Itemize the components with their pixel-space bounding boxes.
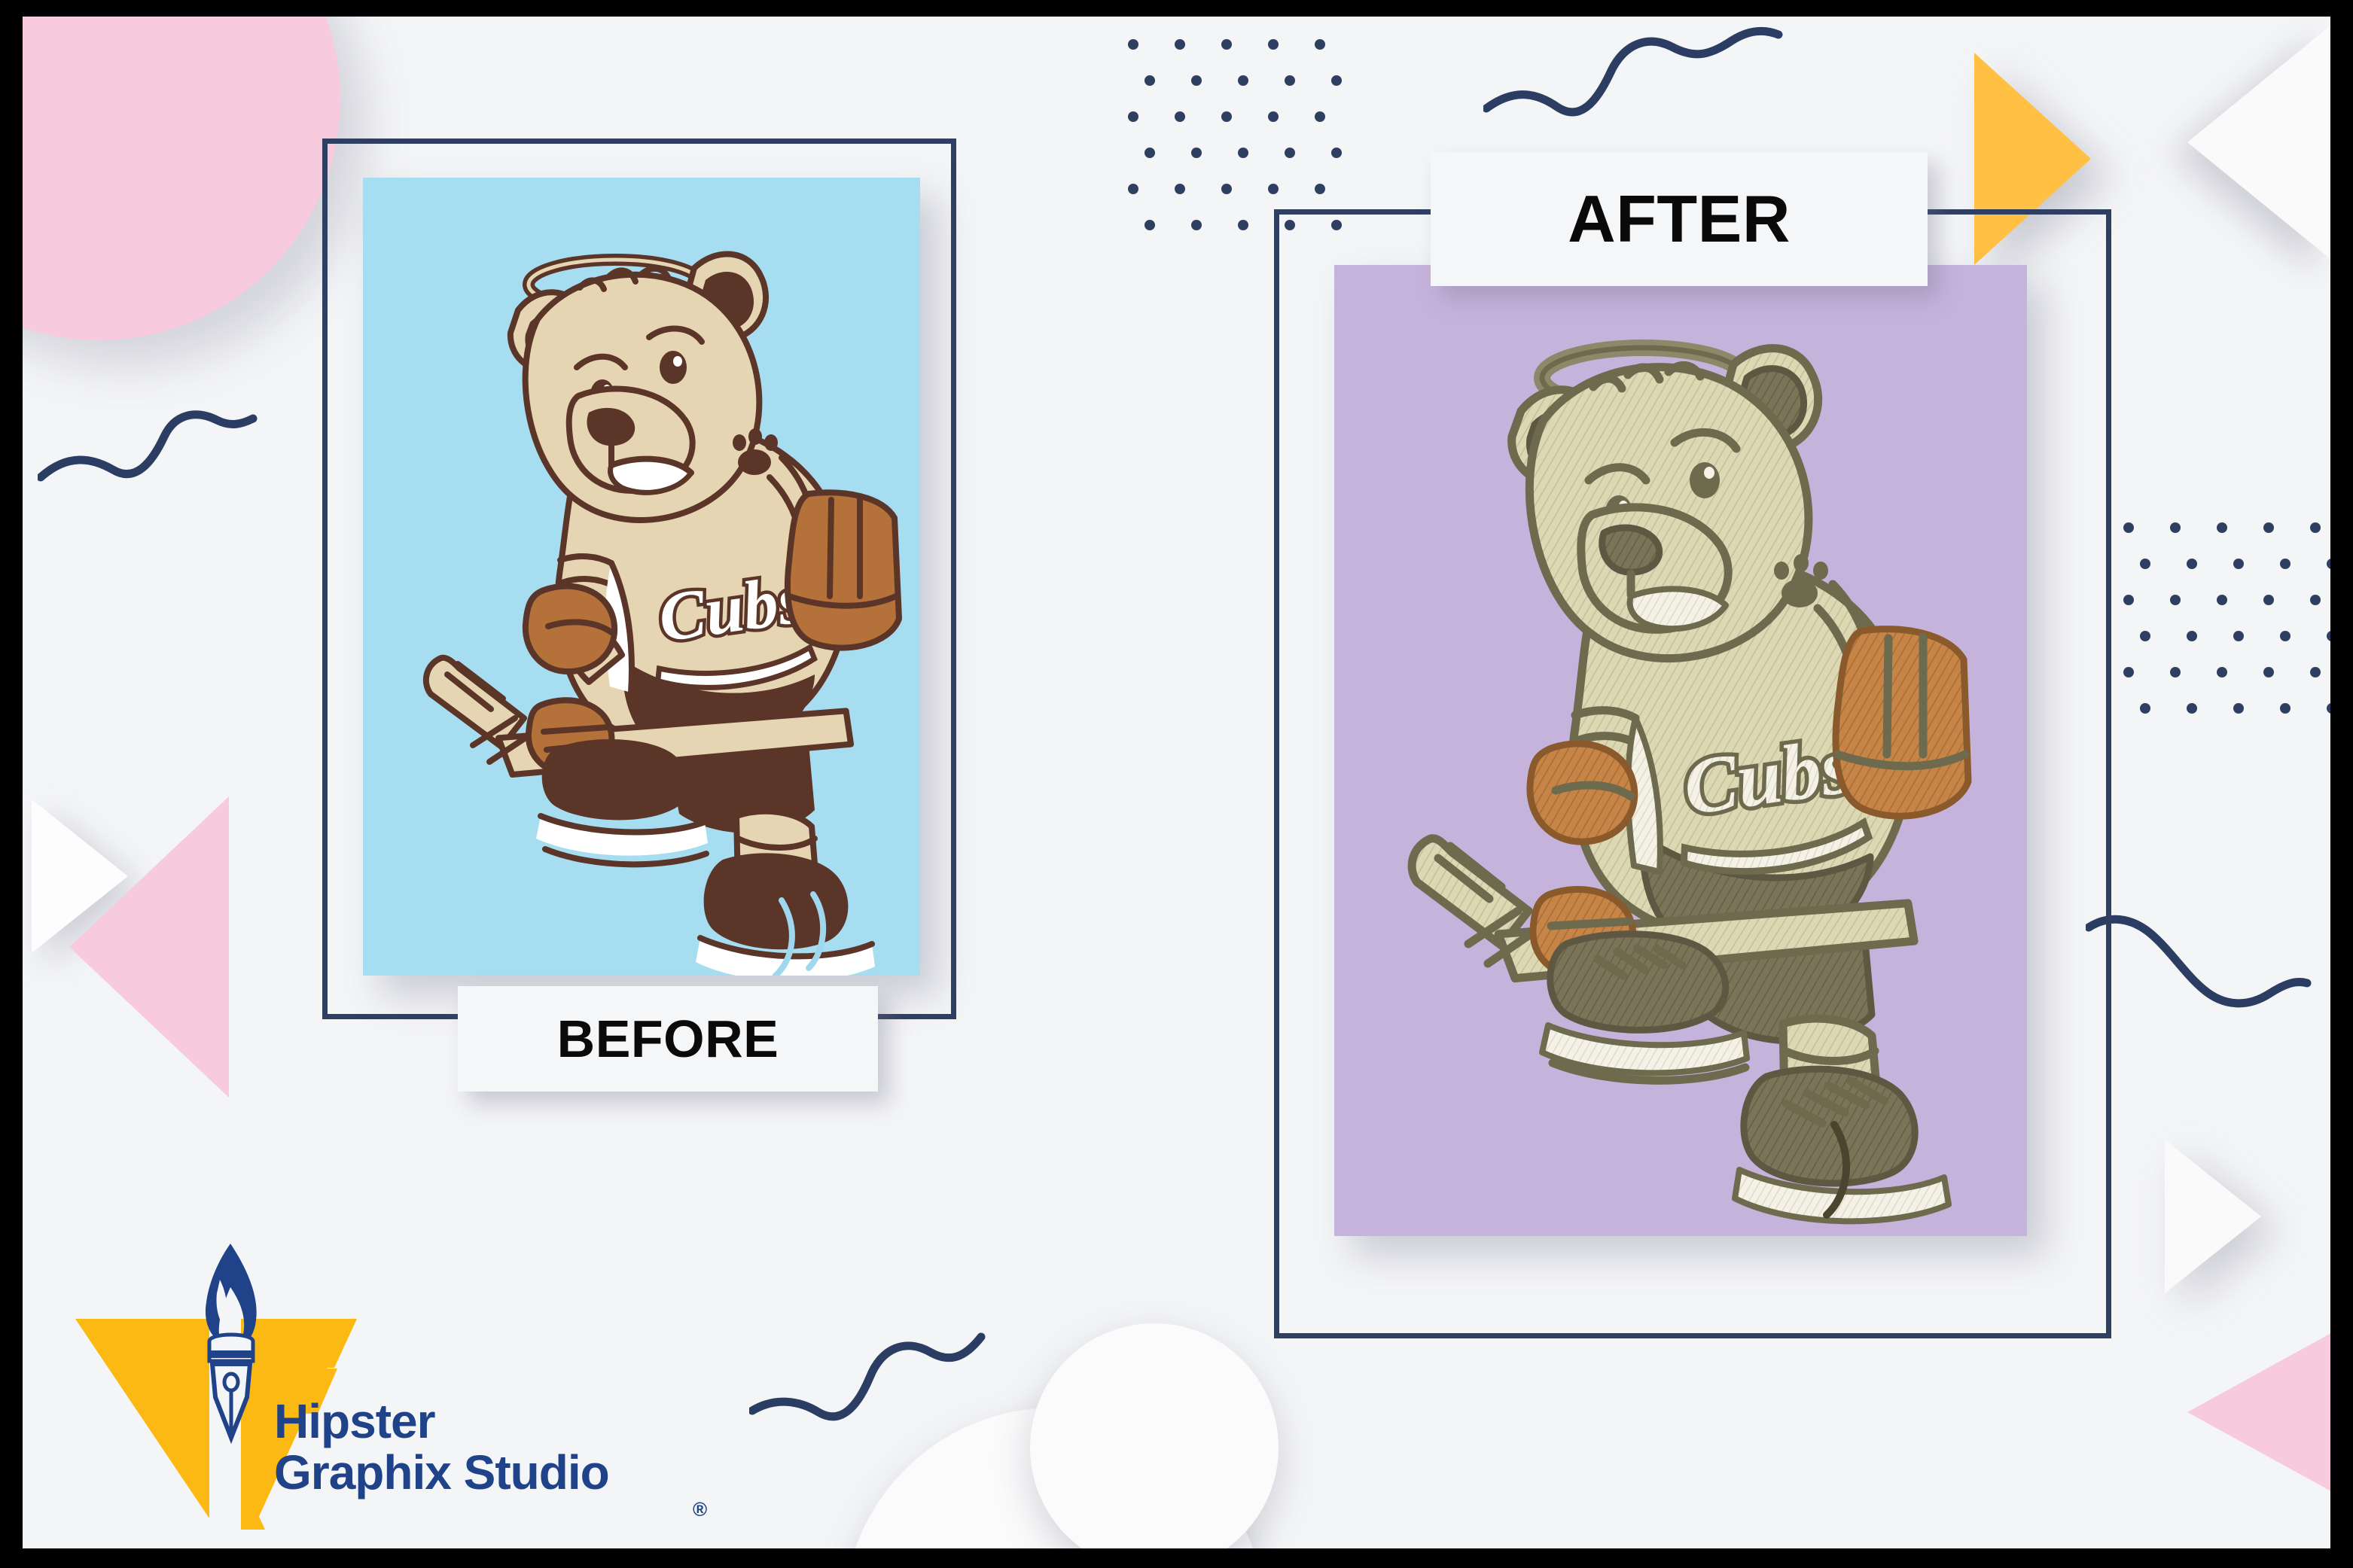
before-label: BEFORE xyxy=(557,1009,779,1069)
dot xyxy=(1144,148,1155,158)
dot xyxy=(2123,667,2134,677)
before-photo: .o{fill:none;stroke:#5a3528;stroke-width… xyxy=(363,178,920,976)
dot xyxy=(2280,559,2291,569)
dot xyxy=(2140,703,2150,714)
dot xyxy=(1128,111,1138,122)
squiggle-right-icon xyxy=(2086,905,2312,1033)
pink-triangle-left-icon xyxy=(69,796,229,1098)
dot xyxy=(2327,559,2330,569)
dot xyxy=(1315,39,1325,50)
dot-grid-right xyxy=(2123,522,2330,726)
dot xyxy=(2310,667,2321,677)
dot xyxy=(1175,184,1185,194)
dot xyxy=(1268,184,1279,194)
dot xyxy=(1238,220,1248,230)
after-label: AFTER xyxy=(1568,181,1791,257)
dot xyxy=(2170,667,2181,677)
dot xyxy=(1238,148,1248,158)
dot xyxy=(2280,703,2291,714)
dot xyxy=(1175,39,1185,50)
dot xyxy=(1221,184,1232,194)
dot xyxy=(2233,703,2244,714)
dot xyxy=(2187,559,2197,569)
white-triangle-bottom-right-icon xyxy=(2165,1140,2261,1293)
dot xyxy=(2327,631,2330,641)
dot xyxy=(2187,631,2197,641)
pink-circle-decoration xyxy=(23,17,340,340)
pen-nib-flame-icon xyxy=(69,1236,702,1548)
dot xyxy=(1315,111,1325,122)
dot xyxy=(1238,75,1248,86)
white-circle-small-decoration xyxy=(1030,1323,1279,1548)
pink-triangle-bottom-right-icon xyxy=(2187,1313,2330,1512)
registered-mark: ® xyxy=(693,1498,707,1521)
dot xyxy=(1191,148,1202,158)
dot xyxy=(1221,39,1232,50)
after-artwork-bear-embroidered: .eo{fill:none;stroke:#6e6a4e;stroke-widt… xyxy=(1334,265,2027,1236)
squiggle-top-right-icon xyxy=(1483,24,1785,160)
before-tag: BEFORE xyxy=(458,986,878,1092)
after-tag: AFTER xyxy=(1431,152,1928,286)
before-artwork-bear: .o{fill:none;stroke:#5a3528;stroke-width… xyxy=(363,178,920,976)
dot xyxy=(2263,595,2274,605)
dot xyxy=(2217,522,2227,533)
dot xyxy=(1128,184,1138,194)
dot xyxy=(2263,522,2274,533)
dot xyxy=(2310,522,2321,533)
dot xyxy=(1268,39,1279,50)
dot xyxy=(2170,522,2181,533)
dot xyxy=(2170,595,2181,605)
dot xyxy=(1331,148,1342,158)
after-photo: .eo{fill:none;stroke:#6e6a4e;stroke-widt… xyxy=(1334,265,2027,1236)
poster-canvas: .o{fill:none;stroke:#5a3528;stroke-width… xyxy=(0,0,2353,1568)
logo-line-1: Hipster xyxy=(274,1394,435,1448)
dot xyxy=(1285,148,1295,158)
dot xyxy=(1144,75,1155,86)
dot xyxy=(2217,595,2227,605)
dot xyxy=(2263,667,2274,677)
dot xyxy=(1128,39,1138,50)
logo-line-2: Graphix Studio xyxy=(274,1445,609,1499)
dot xyxy=(2123,522,2134,533)
dot xyxy=(1221,111,1232,122)
white-triangle-top-right-icon xyxy=(2187,26,2330,259)
dot xyxy=(2123,595,2134,605)
dot xyxy=(2140,631,2150,641)
dot xyxy=(1268,111,1279,122)
skate-right xyxy=(696,853,875,976)
dot xyxy=(2187,703,2197,714)
logo-wordmark: HipsterGraphix Studio xyxy=(274,1396,609,1498)
poster-inner: .o{fill:none;stroke:#5a3528;stroke-width… xyxy=(23,17,2330,1548)
dot xyxy=(2233,631,2244,641)
dot xyxy=(1331,75,1342,86)
dot xyxy=(2310,595,2321,605)
dot xyxy=(1191,220,1202,230)
dot xyxy=(2233,559,2244,569)
dot xyxy=(1191,75,1202,86)
dot xyxy=(1315,184,1325,194)
dot xyxy=(2217,667,2227,677)
dot xyxy=(1144,220,1155,230)
skate-right-embroidered xyxy=(1735,1069,1949,1221)
dot xyxy=(2327,703,2330,714)
squiggle-bottom-center-icon xyxy=(749,1328,1005,1441)
squiggle-top-left-icon xyxy=(38,393,279,491)
dot xyxy=(2140,559,2150,569)
brand-logo: HipsterGraphix Studio ® xyxy=(69,1236,702,1548)
dot xyxy=(1175,111,1185,122)
dot xyxy=(1285,75,1295,86)
dot xyxy=(2280,631,2291,641)
